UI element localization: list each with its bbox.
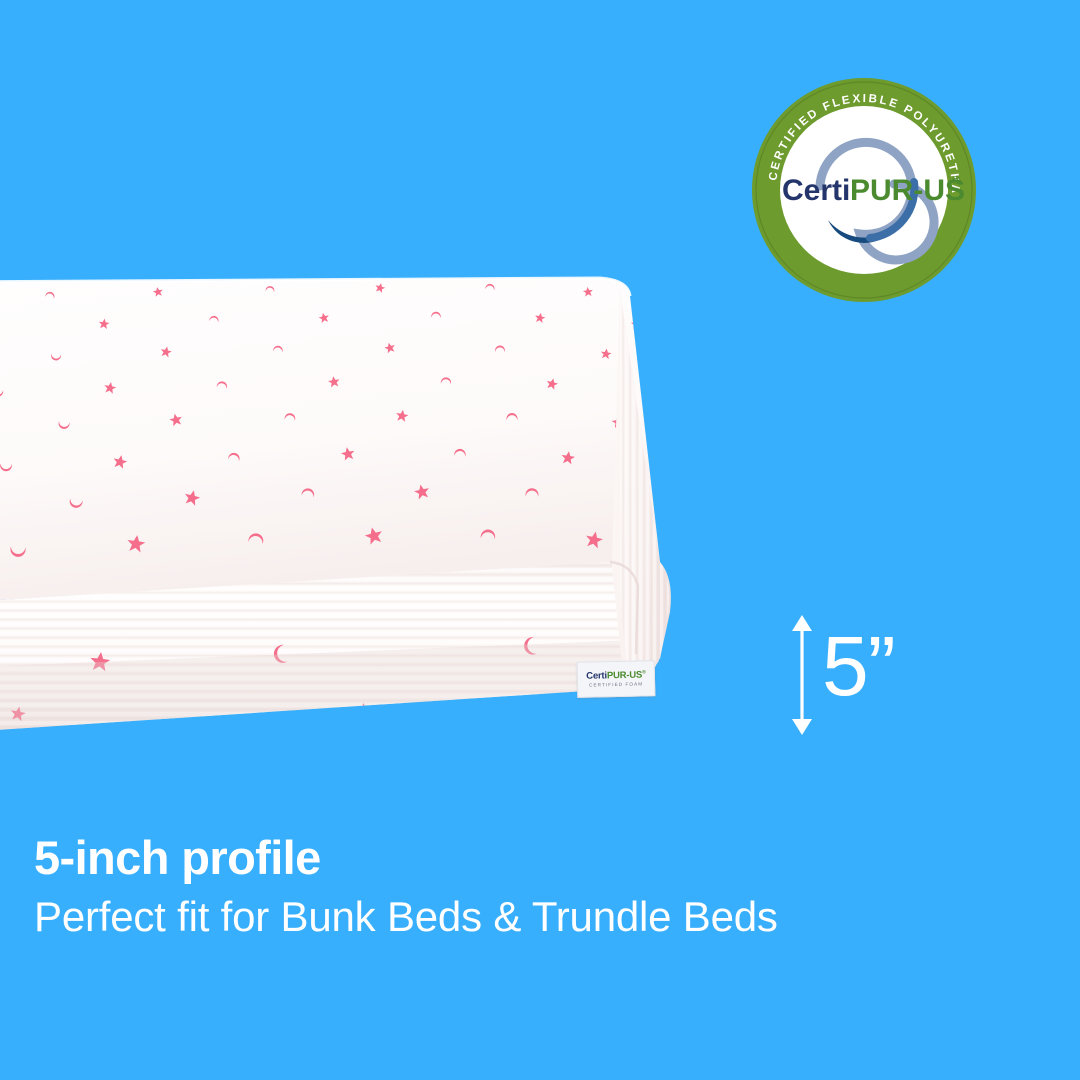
side-tag-purus: PUR-US: [607, 669, 642, 681]
badge-wordmark-certi: Certi: [782, 174, 850, 207]
certipur-us-badge: CONTAINS CERTIFIED FLEXIBLE POLYURETHANE…: [752, 78, 976, 302]
side-tag-wordmark: CertiPUR-US®: [586, 670, 646, 681]
mattress-product-photo: [0, 262, 680, 782]
caption-headline: 5-inch profile: [34, 833, 1034, 882]
side-tag-registered-mark: ®: [642, 669, 646, 675]
badge-wordmark: Certi PUR-US ®: [782, 174, 965, 207]
caption-subline: Perfect fit for Bunk Beds & Trundle Beds: [34, 892, 1034, 942]
product-marketing-image: CONTAINS CERTIFIED FLEXIBLE POLYURETHANE…: [0, 0, 1080, 1080]
thickness-value-label: 5”: [822, 624, 895, 708]
badge-wordmark-purus: PUR-US: [850, 174, 965, 207]
mattress-top-surface: [0, 278, 667, 612]
caption-block: 5-inch profile Perfect fit for Bunk Beds…: [34, 833, 1034, 943]
badge-registered-mark: ®: [952, 175, 960, 187]
thickness-dimension-indicator: 5”: [780, 612, 940, 742]
side-tag-subtitle: CERTIFIED FOAM: [589, 682, 643, 688]
side-tag-certi: Certi: [586, 670, 607, 681]
double-arrow-icon: [788, 612, 816, 738]
mattress-certipur-side-tag: CertiPUR-US® CERTIFIED FOAM: [577, 660, 656, 698]
